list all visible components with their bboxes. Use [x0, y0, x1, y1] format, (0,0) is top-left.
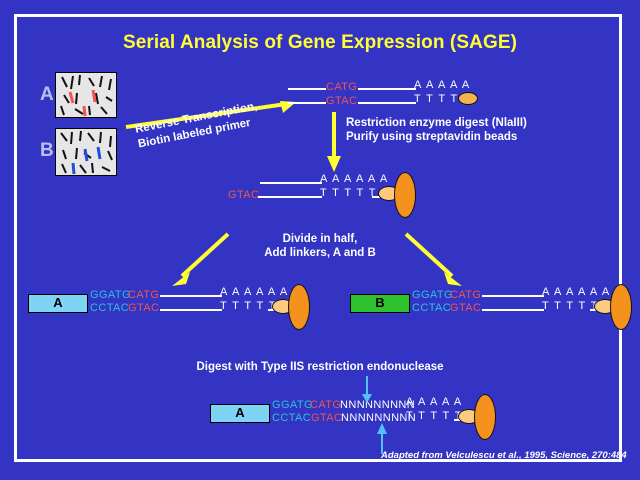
a-bottom-linker: CCTAC	[90, 303, 129, 314]
restriction-line-2: Purify using streptavidin beads	[346, 130, 527, 144]
a-bottom-site: GTAC	[128, 303, 159, 314]
strand-bottom-right	[358, 102, 416, 104]
linker-box-a: A	[28, 294, 88, 313]
slide-canvas: Serial Analysis of Gene Expression (SAGE…	[0, 0, 640, 480]
bound-strand-top	[260, 182, 322, 184]
bound-polya: A A A A A A	[320, 174, 389, 185]
final-top-tag: NNNNNNNNN	[340, 400, 415, 411]
construct-digested: A GGATG CATG NNNNNNNNN A A A A A CCTAC G…	[210, 400, 480, 436]
b-bottom-linker: CCTAC	[412, 303, 451, 314]
b-strand-bottom	[482, 309, 544, 311]
b-bottom-site: GTAC	[450, 303, 481, 314]
b-top-site: CATG	[450, 290, 481, 301]
strand-bottom-left	[288, 102, 326, 104]
a-top-linker: GGATG	[90, 290, 131, 301]
construct-branch-a: A GGATG CATG A A A A A A CCTAC GTAC T T …	[28, 290, 290, 324]
construct-bottom-site: GTAC	[326, 96, 357, 107]
a-polya: A A A A A A	[220, 287, 289, 298]
streptavidin-bead	[474, 394, 496, 440]
final-bottom-site: GTAC	[311, 413, 342, 424]
sample-b-label: B	[40, 140, 54, 162]
final-polya: A A A A A	[406, 397, 463, 408]
divide-line-2: Add linkers, A and B	[0, 246, 640, 260]
divide-step-label: Divide in half, Add linkers, A and B	[0, 232, 640, 260]
restriction-line-1: Restriction enzyme digest (NlaIII)	[346, 116, 527, 130]
construct-polya: A A A A A	[414, 80, 471, 91]
construct-branch-b: B GGATG CATG A A A A A A CCTAC GTAC T T …	[350, 290, 612, 324]
streptavidin-bead	[610, 284, 632, 330]
construct-bead-bound: GTAC A A A A A A T T T T T T	[228, 178, 408, 206]
streptavidin-bead	[288, 284, 310, 330]
construct-top-site: CATG	[326, 82, 357, 93]
b-polya: A A A A A A	[542, 287, 611, 298]
typeIIs-step-label: Digest with Type IIS restriction endonuc…	[0, 360, 640, 374]
streptavidin-bead	[394, 172, 416, 218]
b-top-linker: GGATG	[412, 290, 453, 301]
page-title: Serial Analysis of Gene Expression (SAGE…	[0, 32, 640, 54]
sample-b-cells	[55, 128, 117, 176]
a-strand-bottom	[160, 309, 222, 311]
restriction-step-arrow	[326, 112, 342, 174]
citation: Adapted from Velculescu et al., 1995, Sc…	[381, 450, 627, 461]
strand-top-left	[288, 88, 326, 90]
sample-a-label: A	[40, 84, 54, 106]
restriction-step-label: Restriction enzyme digest (NlaIII) Purif…	[346, 116, 527, 144]
final-bottom-linker: CCTAC	[272, 413, 311, 424]
a-top-site: CATG	[128, 290, 159, 301]
linker-box-b: B	[350, 294, 410, 313]
divide-line-1: Divide in half,	[0, 232, 640, 246]
a-strand-top	[160, 295, 222, 297]
linker-box-a-final: A	[210, 404, 270, 423]
cut-arrow-bottom	[375, 420, 389, 454]
bound-strand-bottom	[258, 196, 322, 198]
strand-top-right	[358, 88, 416, 90]
construct-mrna-cdna: CATG A A A A A GTAC T T T T T	[288, 84, 478, 112]
b-strand-top	[482, 295, 544, 297]
cut-arrow-top	[360, 376, 374, 404]
sample-a-cells	[55, 72, 117, 118]
bound-bottom-site: GTAC	[228, 190, 259, 201]
final-top-linker: GGATG	[272, 400, 313, 411]
final-top-site: CATG	[310, 400, 341, 411]
biotin-tag	[458, 92, 478, 105]
